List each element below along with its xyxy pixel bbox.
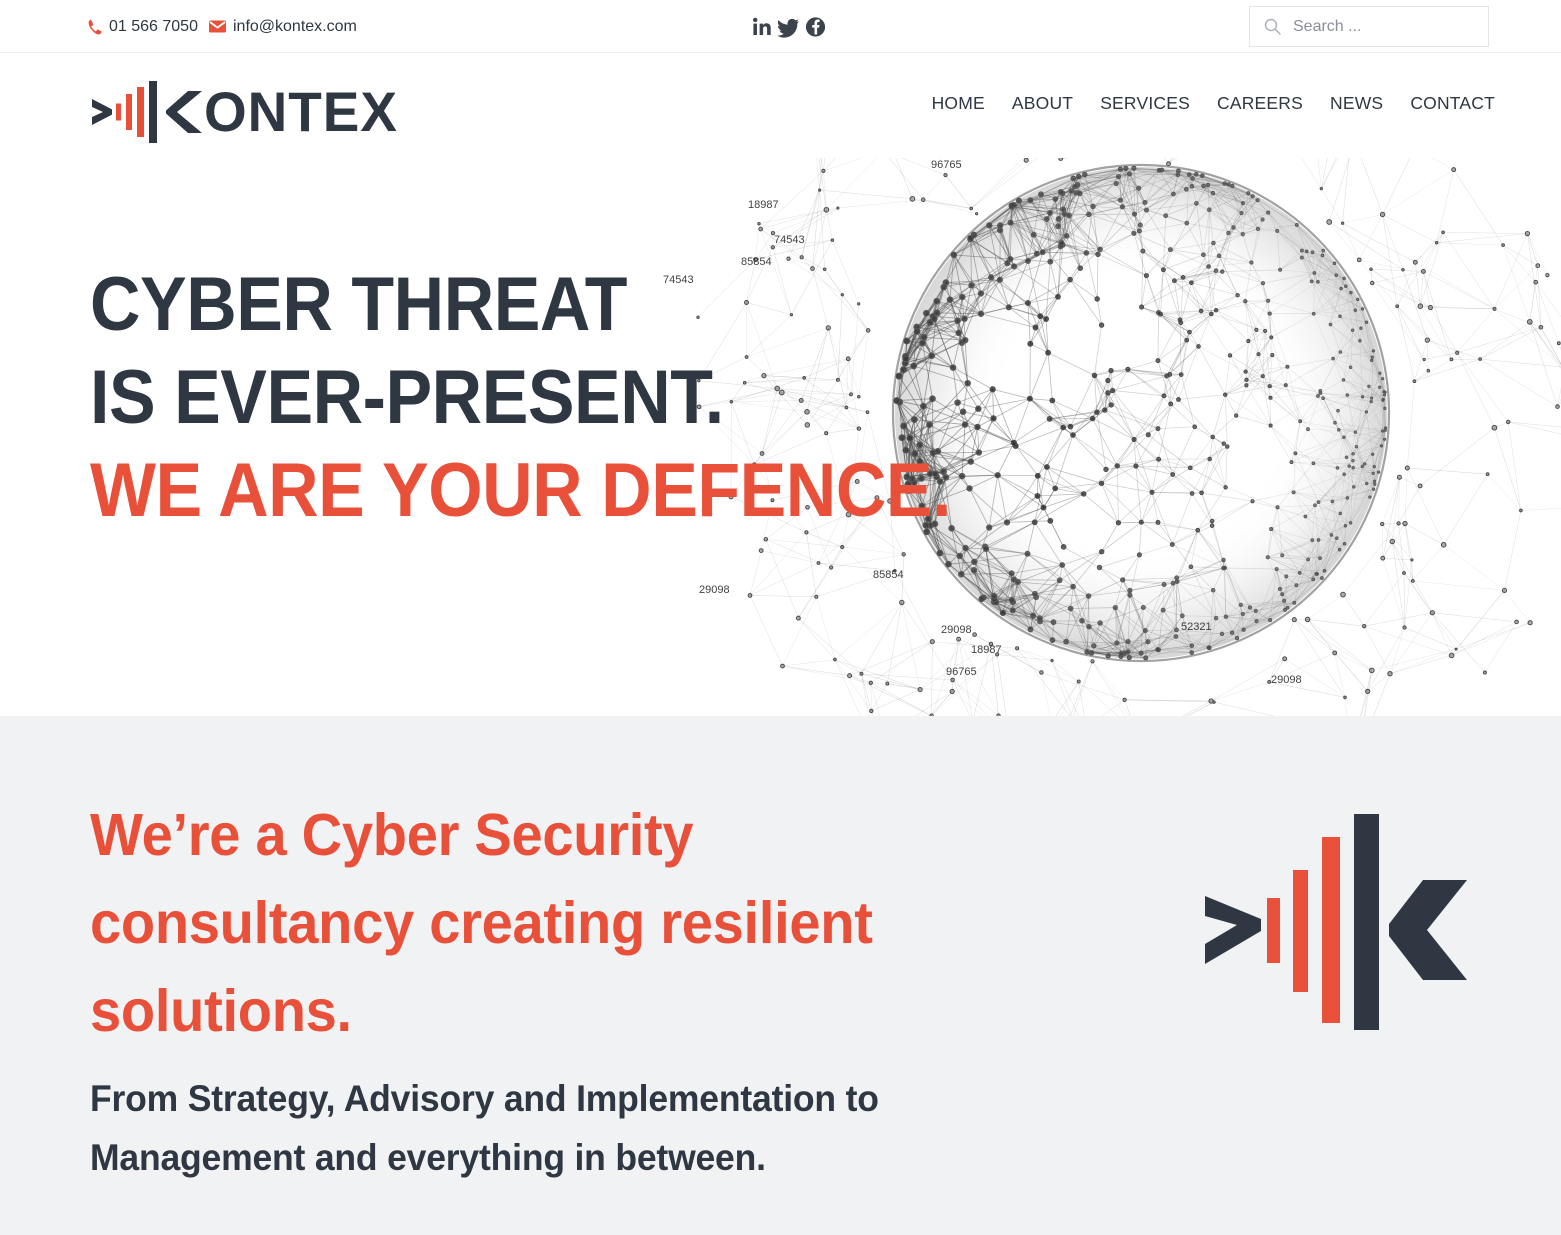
kontex-logo-icon [90,81,158,143]
svg-text:74543: 74543 [774,234,805,246]
hero-headline-line1: CYBER THREAT [90,258,951,351]
hero-section: 0787696765189877454385854745438585429098… [0,158,1561,716]
twitter-icon[interactable] [777,16,800,38]
intro-copy: We’re a Cyber Security consultancy creat… [90,791,1000,1187]
hero-headline-line2: IS EVER-PRESENT. [90,351,951,444]
intro-heading: We’re a Cyber Security consultancy creat… [90,791,955,1055]
svg-text:29098: 29098 [941,624,972,636]
search-icon [1264,18,1281,35]
nav-item-contact[interactable]: CONTACT [1410,93,1495,114]
logo[interactable]: ONTEX [90,81,400,143]
intro-subheading: From Strategy, Advisory and Implementati… [90,1069,964,1187]
search-input[interactable] [1293,18,1473,36]
nav-item-services[interactable]: SERVICES [1100,93,1190,114]
hero-headline-line3: WE ARE YOUR DEFENCE. [90,444,951,537]
nav-item-home[interactable]: HOME [932,93,985,114]
linkedin-icon[interactable] [752,16,772,38]
svg-text:85854: 85854 [873,569,904,581]
intro-section: We’re a Cyber Security consultancy creat… [0,716,1561,1235]
search-box[interactable] [1249,6,1489,47]
svg-text:96765: 96765 [946,666,977,678]
main-navigation: HOME ABOUT SERVICES CAREERS NEWS CONTACT [932,93,1495,114]
nav-item-about[interactable]: ABOUT [1012,93,1073,114]
svg-text:52321: 52321 [1181,621,1212,633]
top-bar: 01 566 7050 info@kontex.com [0,0,1561,53]
contact-info: 01 566 7050 info@kontex.com [88,0,357,53]
email-link[interactable]: info@kontex.com [233,18,357,36]
envelope-icon [209,20,226,33]
logo-wordmark: ONTEX [204,87,398,137]
nav-item-news[interactable]: NEWS [1330,93,1383,114]
site-header: ONTEX HOME ABOUT SERVICES CAREERS NEWS C… [0,53,1561,158]
svg-text:96765: 96765 [931,159,962,171]
svg-text:29098: 29098 [1271,674,1302,686]
logo-k-chevron [164,87,204,137]
svg-text:18987: 18987 [748,199,779,211]
hero-copy: CYBER THREAT IS EVER-PRESENT. WE ARE YOU… [90,258,1026,537]
svg-text:29098: 29098 [699,584,730,596]
facebook-icon[interactable] [805,16,826,38]
phone-link[interactable]: 01 566 7050 [109,18,198,36]
svg-text:18987: 18987 [971,644,1002,656]
nav-item-careers[interactable]: CAREERS [1217,93,1303,114]
phone-icon [88,19,102,35]
kontex-mark-large [1199,798,1479,1053]
social-links [752,0,826,53]
